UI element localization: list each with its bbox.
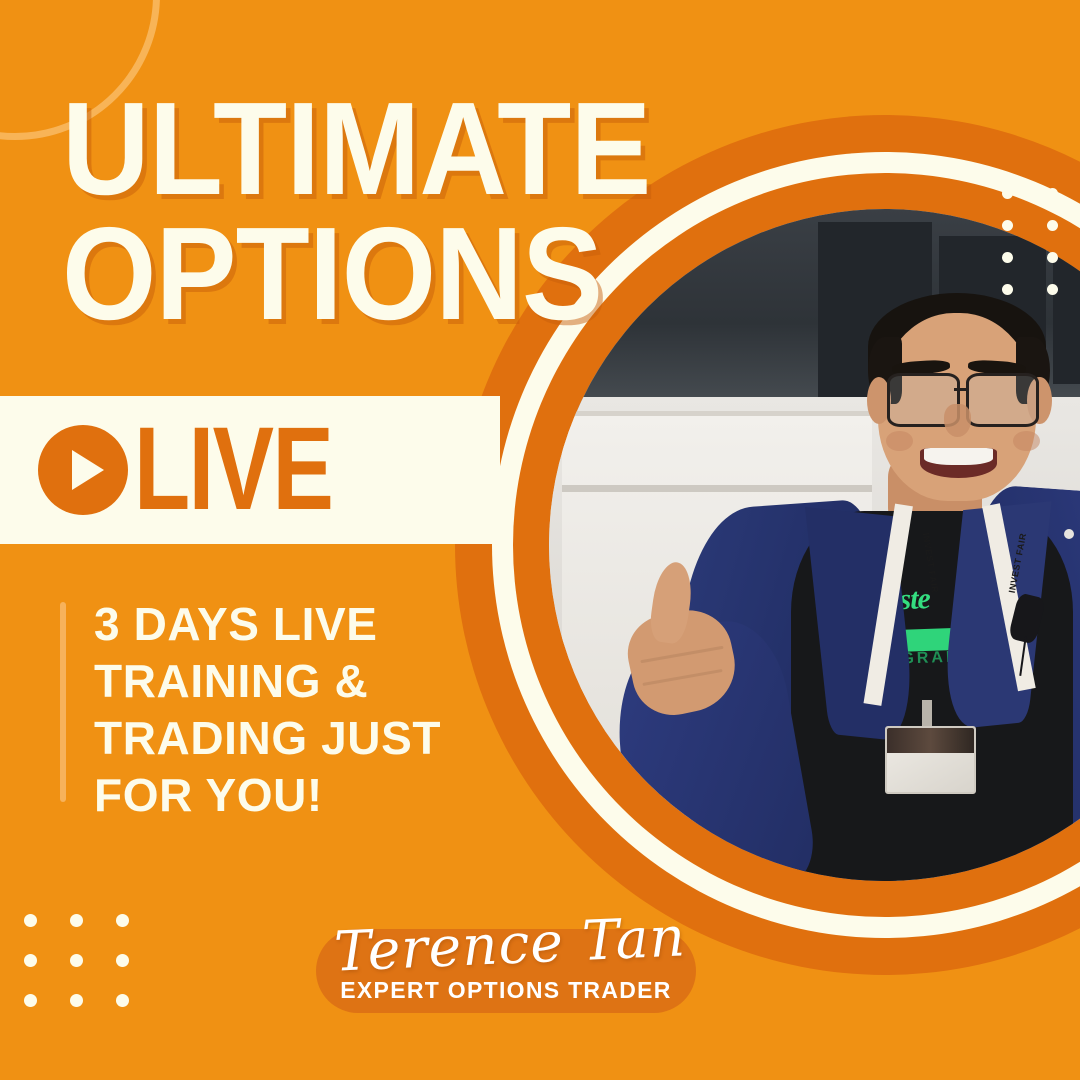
subject-cheek — [1013, 431, 1040, 451]
lapel-pin — [1064, 529, 1074, 539]
dot — [1002, 284, 1013, 295]
dot — [70, 954, 83, 967]
dot — [116, 954, 129, 967]
play-triangle-icon — [72, 450, 104, 490]
dot — [1047, 252, 1058, 263]
presenter-role: EXPERT OPTIONS TRADER — [316, 977, 696, 1004]
dot — [24, 994, 37, 1007]
dot — [1047, 220, 1058, 231]
subtitle-line-2: TRAINING & — [94, 653, 441, 710]
subtitle-block: 3 DAYS LIVE TRAINING & TRADING JUST FOR … — [60, 596, 441, 824]
dot — [1047, 284, 1058, 295]
subtitle-line-3: TRADING JUST — [94, 710, 441, 767]
badge-clip — [922, 700, 932, 727]
dot — [1002, 188, 1013, 199]
dot — [70, 914, 83, 927]
dot — [24, 954, 37, 967]
dot — [116, 994, 129, 1007]
page-title: ULTIMATE OPTIONS — [62, 86, 650, 337]
dot — [1002, 220, 1013, 231]
live-label: LIVE — [134, 419, 332, 520]
promo-poster: oneMaste PROGRAM — [0, 0, 1080, 1080]
eyeglasses-lens — [966, 373, 1039, 427]
subject-teeth — [924, 448, 994, 465]
dot — [24, 914, 37, 927]
play-icon[interactable] — [38, 425, 128, 515]
dot — [1002, 252, 1013, 263]
dot-grid-bottom-left — [24, 914, 129, 1034]
headline-line-2: OPTIONS — [62, 211, 650, 336]
dot-grid-top-right — [1002, 188, 1058, 316]
eyeglasses-bridge — [954, 388, 967, 391]
subject-cheek — [886, 431, 913, 451]
subtitle-line-1: 3 DAYS LIVE — [94, 596, 441, 653]
dot — [116, 914, 129, 927]
dot — [1047, 188, 1058, 199]
subject-smile — [920, 448, 997, 478]
subtitle-text: 3 DAYS LIVE TRAINING & TRADING JUST FOR … — [94, 596, 441, 824]
dot — [70, 994, 83, 1007]
headline-line-1: ULTIMATE — [62, 86, 650, 211]
subtitle-line-4: FOR YOU! — [94, 767, 441, 824]
live-banner: LIVE — [0, 396, 500, 544]
badge-header-strip — [887, 728, 974, 752]
name-badge — [885, 726, 976, 794]
subtitle-accent-rule — [60, 602, 66, 802]
